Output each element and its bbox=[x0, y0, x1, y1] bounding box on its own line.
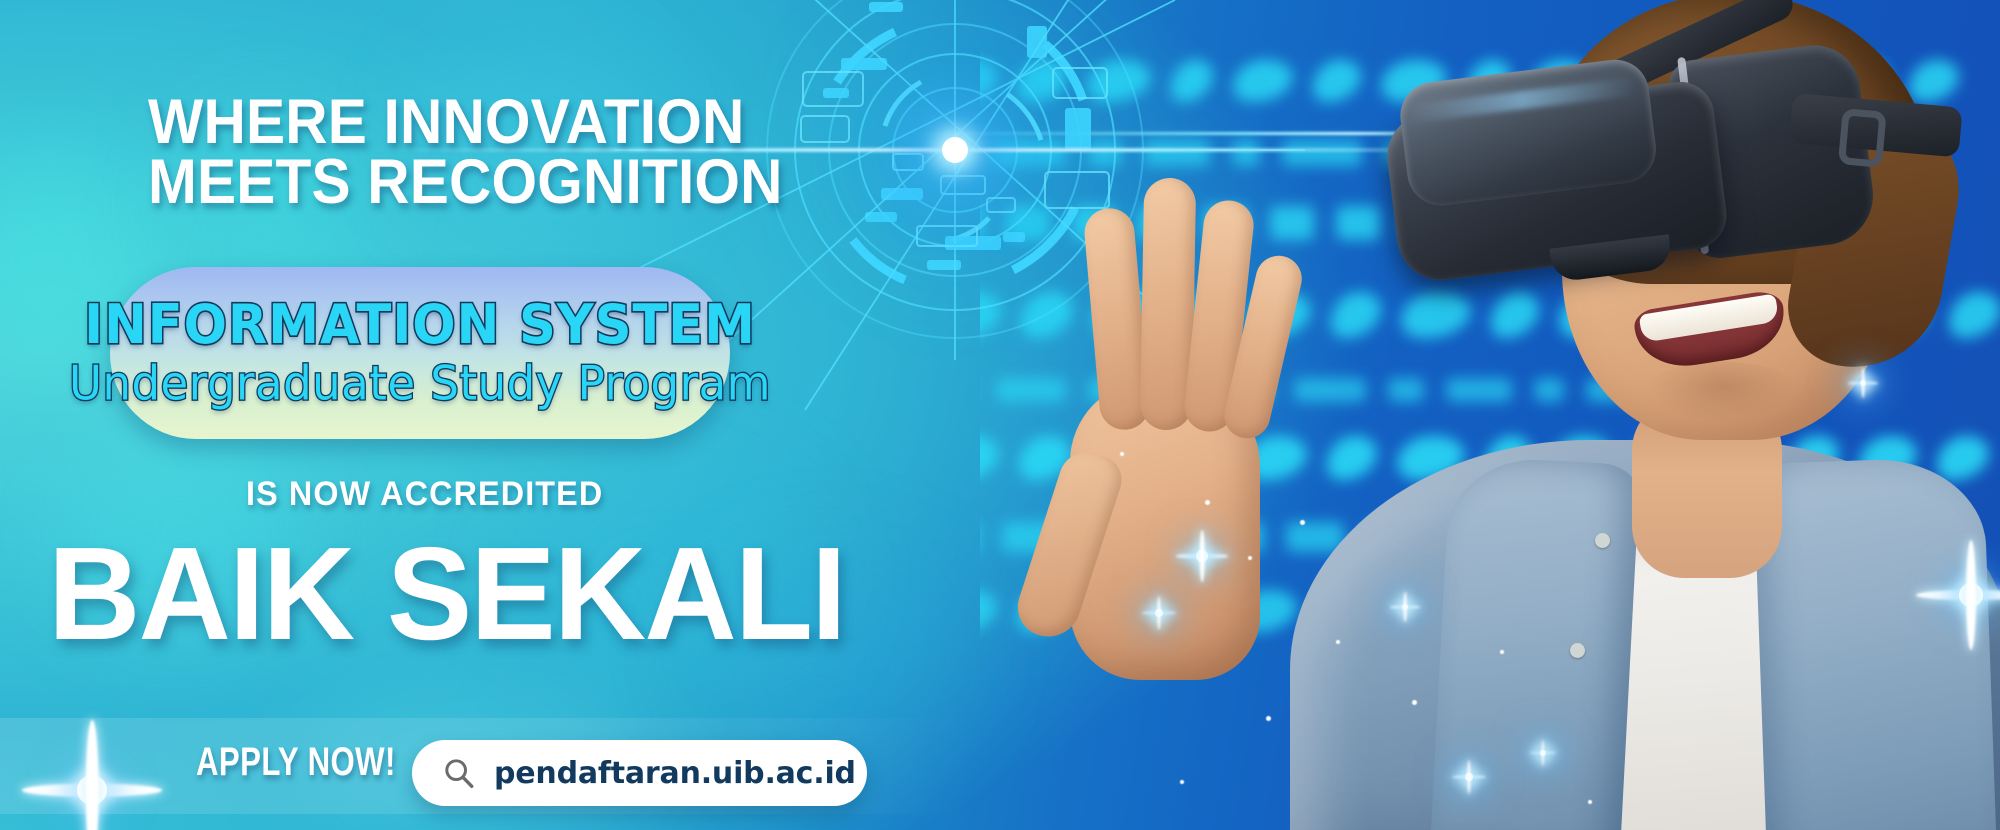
promotional-banner: WHERE INNOVATION MEETS RECOGNITION INFOR… bbox=[0, 0, 2000, 830]
program-name: INFORMATION SYSTEM bbox=[84, 294, 756, 357]
headline-line-1: WHERE INNOVATION bbox=[148, 92, 818, 152]
apply-now-label: APPLY NOW! bbox=[196, 740, 396, 785]
headline-line-2: MEETS RECOGNITION bbox=[148, 152, 818, 212]
headline: WHERE INNOVATION MEETS RECOGNITION bbox=[148, 92, 818, 213]
accreditation-grade: BAIK SEKALI bbox=[48, 528, 845, 660]
program-level: Undergraduate Study Program bbox=[69, 356, 771, 411]
url-search-pill[interactable]: pendaftaran.uib.ac.id bbox=[412, 740, 867, 806]
search-icon bbox=[442, 756, 476, 790]
hud-core-glow bbox=[942, 137, 968, 163]
person-with-vr-headset bbox=[1240, 0, 2000, 830]
accreditation-status: IS NOW ACCREDITED bbox=[246, 475, 603, 514]
registration-url[interactable]: pendaftaran.uib.ac.id bbox=[494, 756, 856, 791]
text-content-block: WHERE INNOVATION MEETS RECOGNITION INFOR… bbox=[0, 0, 880, 830]
program-badge: INFORMATION SYSTEM Undergraduate Study P… bbox=[110, 267, 730, 439]
